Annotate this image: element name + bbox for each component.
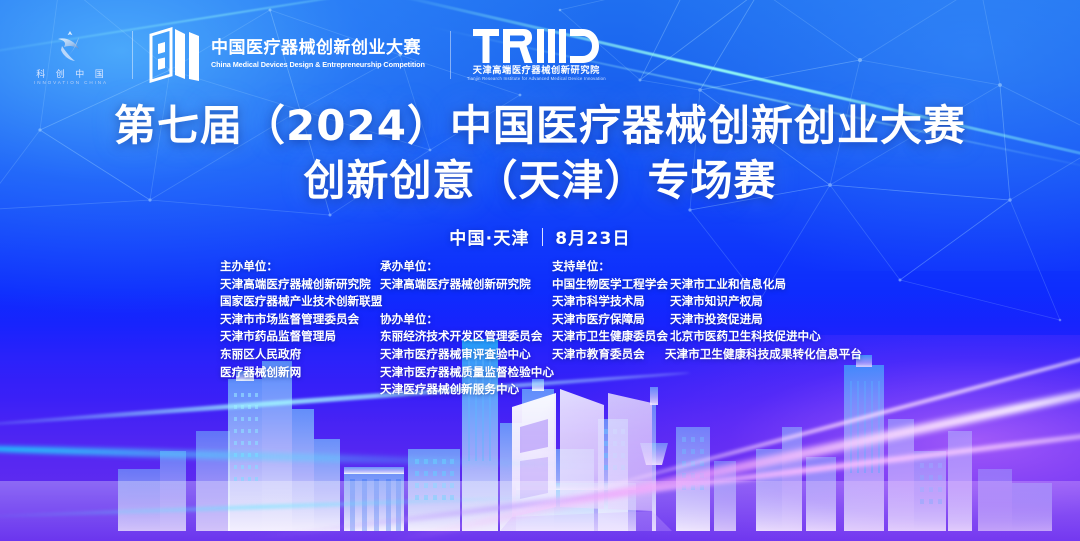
coorganizer-item: 天津医疗器械创新服务中心 [380,381,552,399]
coorganizer-heading: 协办单位： [380,311,552,329]
supporter-item: 天津市工业和信息化局 [670,276,786,294]
sponsor-logo-bar: 科 创 中 国 INNOVATION CHINA 中国医疗器械创新创业大赛 Ch… [24,24,606,86]
supporter-item: 中国生物医学工程学会 [552,276,670,294]
organizer-heading: 承办单位： [380,258,552,276]
logo-kc-en-label: INNOVATION CHINA [32,81,108,86]
host-item: 国家医疗器械产业技术创新联盟 [220,293,380,311]
host-item: 医疗器械创新网 [220,364,380,382]
logo-kc-cn-label: 科 创 中 国 [32,70,108,79]
logo-divider-1 [132,31,133,79]
title-block: 第七届（2024）中国医疗器械创新创业大赛 创新创意（天津）专场赛 中国·天津 … [0,100,1080,249]
organizers-column-host: 主办单位： 天津高端医疗器械创新研究院 国家医疗器械产业技术创新联盟 天津市市场… [220,258,380,399]
page-title-line2: 创新创意（天津）专场赛 [0,155,1080,206]
supporter-item: 天津市科学技术局 [552,293,670,311]
organizers-spacer [380,293,552,311]
organizer-item: 天津高端医疗器械创新研究院 [380,276,552,294]
supporter-heading: 支持单位： [552,258,862,276]
host-item: 东丽区人民政府 [220,346,380,364]
supporter-item: 天津市投资促进局 [670,311,763,329]
coorganizer-item: 天津市医疗器械审评查验中心 [380,346,552,364]
logo-divider-2 [450,31,451,79]
logo-cmdc-en-label: China Medical Devices Design & Entrepren… [211,60,425,71]
supporter-row: 中国生物医学工程学会 天津市工业和信息化局 [552,276,862,294]
supporter-item: 天津市教育委员会 [552,346,665,364]
supporter-row: 天津市科学技术局 天津市知识产权局 [552,293,862,311]
organizers-block: 主办单位： 天津高端医疗器械创新研究院 国家医疗器械产业技术创新联盟 天津市市场… [0,258,1080,399]
host-heading: 主办单位： [220,258,380,276]
logo-cmdc-cn-label: 中国医疗器械创新创业大赛 [211,39,434,59]
triid-wordmark-icon [473,29,599,63]
open-door-logo-icon [149,27,201,83]
supporter-row: 天津市教育委员会 天津市卫生健康科技成果转化信息平台 [552,346,862,364]
host-item: 天津市药品监督管理局 [220,328,380,346]
event-subtitle: 中国·天津 8月23日 [0,224,1080,249]
logo-triid: 天津高端医疗器械创新研究院 Tianjin Research Institute… [467,29,606,82]
phoenix-mark-icon [53,30,87,66]
organizers-column-organizer-coorganizer: 承办单位： 天津高端医疗器械创新研究院 协办单位： 东丽经济技术开发区管理委员会… [380,258,552,399]
supporter-item: 天津市医疗保障局 [552,311,670,329]
supporter-item: 天津市知识产权局 [670,293,763,311]
logo-cmdc-text: 中国医疗器械创新创业大赛 China Medical Devices Desig… [211,39,434,71]
event-poster: 科 创 中 国 INNOVATION CHINA 中国医疗器械创新创业大赛 Ch… [0,0,1080,541]
coorganizer-item: 东丽经济技术开发区管理委员会 [380,328,552,346]
supporter-row: 天津市医疗保障局 天津市投资促进局 [552,311,862,329]
supporter-item: 天津市卫生健康科技成果转化信息平台 [665,346,862,364]
supporter-item: 天津市卫生健康委员会 [552,328,670,346]
logo-triid-cn-label: 天津高端医疗器械创新研究院 [473,66,600,75]
supporter-item: 北京市医药卫生科技促进中心 [670,328,821,346]
supporter-row: 天津市卫生健康委员会 北京市医药卫生科技促进中心 [552,328,862,346]
logo-kechuang-zhongguo: 科 创 中 国 INNOVATION CHINA [24,24,116,86]
event-location: 中国·天津 [449,224,529,249]
subtitle-divider [542,228,544,246]
coorganizer-item: 天津市医疗器械质量监督检验中心 [380,364,552,382]
host-item: 天津市市场监督管理委员会 [220,311,380,329]
logo-triid-en-label: Tianjin Research Institute for Advanced … [467,77,606,81]
page-title-line1: 第七届（2024）中国医疗器械创新创业大赛 [0,100,1080,151]
event-date: 8月23日 [555,224,631,249]
host-item: 天津高端医疗器械创新研究院 [220,276,380,294]
organizers-column-supporters: 支持单位： 中国生物医学工程学会 天津市工业和信息化局 天津市科学技术局 天津市… [552,258,862,399]
logo-china-medical-devices-competition: 中国医疗器械创新创业大赛 China Medical Devices Desig… [149,27,434,83]
